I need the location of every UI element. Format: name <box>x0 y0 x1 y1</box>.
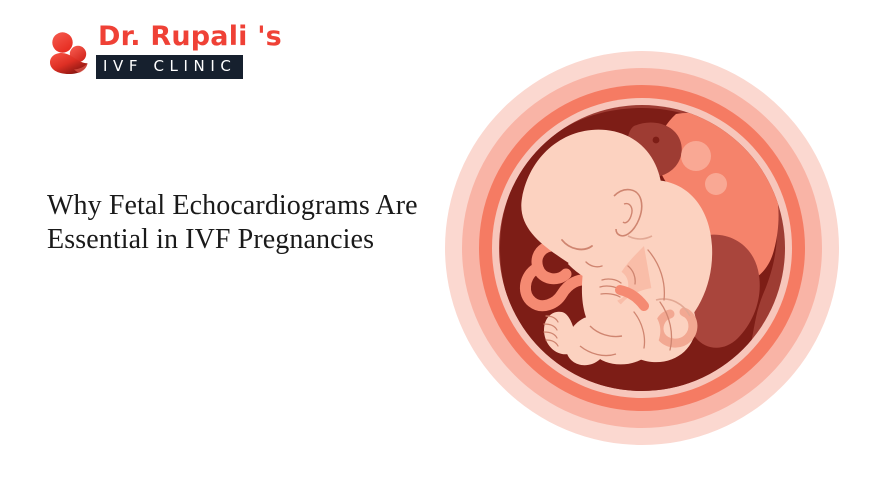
brand-name: Dr. Rupali 's <box>98 20 274 54</box>
page-title: Why Fetal Echocardiograms Are Essential … <box>47 189 427 257</box>
brand-logo[interactable]: Dr. Rupali 's IVF CLINIC <box>44 20 274 82</box>
brand-subtitle: IVF CLINIC <box>103 58 236 75</box>
fetus-in-womb-illustration <box>438 50 842 450</box>
brand-text-group: Dr. Rupali 's IVF CLINIC <box>96 20 274 79</box>
placenta-vesicle <box>681 141 711 171</box>
parent-and-child-figures-icon <box>44 28 92 76</box>
brand-subtitle-bar: IVF CLINIC <box>96 55 243 79</box>
placenta-nodule-dot <box>653 137 660 144</box>
placenta-vesicle <box>705 173 727 195</box>
